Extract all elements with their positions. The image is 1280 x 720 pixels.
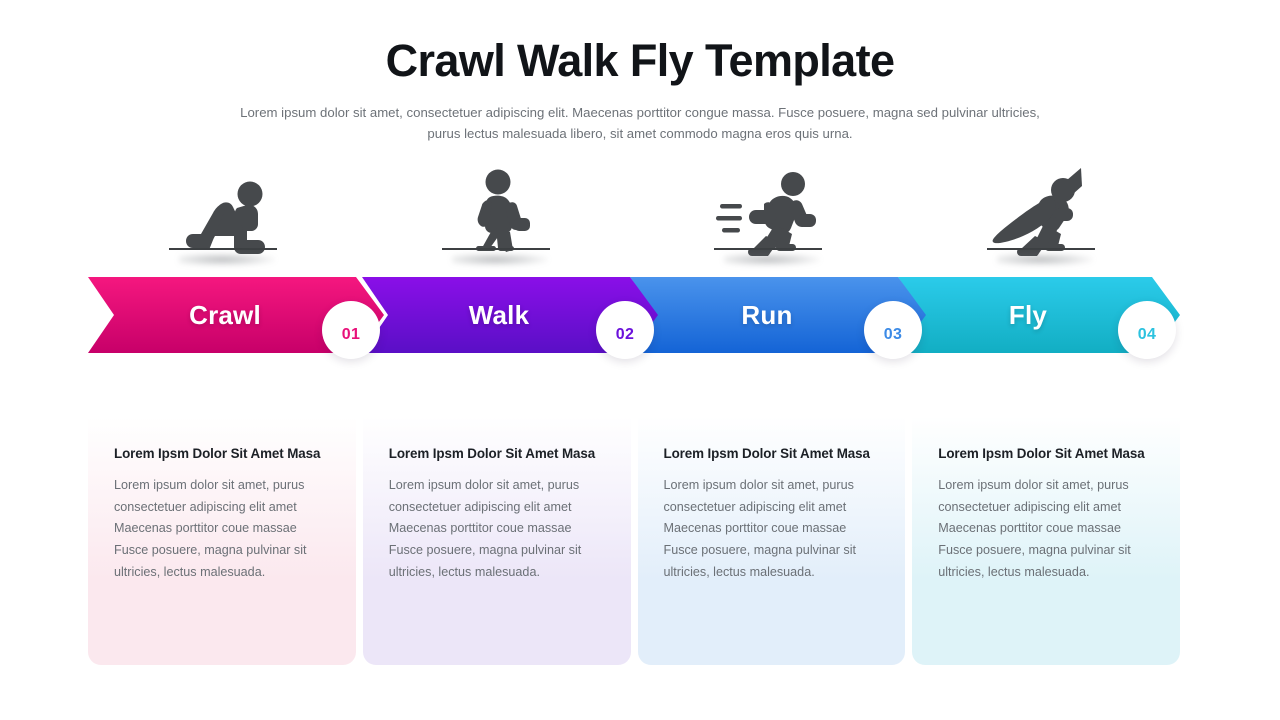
stage-label: Walk xyxy=(469,300,552,331)
ground-line xyxy=(987,248,1095,250)
page-subtitle: Lorem ipsum dolor sit amet, consectetuer… xyxy=(240,102,1040,145)
stage-card-run[interactable]: Lorem Ipsm Dolor Sit Amet Masa Lorem ips… xyxy=(638,362,906,665)
stage-number-badge: 04 xyxy=(1118,301,1176,359)
pictogram-cell-fly xyxy=(906,158,1179,276)
stage-number-badge: 02 xyxy=(596,301,654,359)
card-heading: Lorem Ipsm Dolor Sit Amet Masa xyxy=(938,446,1154,461)
stage-card-walk[interactable]: Lorem Ipsm Dolor Sit Amet Masa Lorem ips… xyxy=(363,362,631,665)
card-body: Lorem ipsum dolor sit amet, purus consec… xyxy=(389,475,605,583)
stage-ribbon-crawl[interactable]: Crawl 01 xyxy=(88,277,384,353)
pictogram-row xyxy=(88,158,1178,276)
stage-number-badge: 03 xyxy=(864,301,922,359)
stage-card-row: Lorem Ipsm Dolor Sit Amet Masa Lorem ips… xyxy=(88,362,1180,665)
card-heading: Lorem Ipsm Dolor Sit Amet Masa xyxy=(114,446,330,461)
page-title: Crawl Walk Fly Template xyxy=(0,36,1280,86)
stage-label: Run xyxy=(741,300,814,331)
stage-card-crawl[interactable]: Lorem Ipsm Dolor Sit Amet Masa Lorem ips… xyxy=(88,362,356,665)
stage-ribbon-run[interactable]: Run 03 xyxy=(630,277,926,353)
stage-label: Crawl xyxy=(189,300,283,331)
slide-canvas: Crawl Walk Fly Template Lorem ipsum dolo… xyxy=(0,0,1280,720)
ground-line xyxy=(442,248,550,250)
icon-reflection xyxy=(452,253,548,266)
flying-superhero-icon xyxy=(981,164,1103,276)
stage-ribbon-band: Crawl 01 Walk 02 Run 03 Fly 04 xyxy=(88,277,1180,353)
stage-number: 01 xyxy=(342,326,360,344)
pictogram-cell-run xyxy=(633,158,906,276)
running-person-icon xyxy=(708,164,830,276)
icon-reflection xyxy=(179,253,275,266)
crawling-person-icon xyxy=(163,164,285,276)
stage-label: Fly xyxy=(1009,300,1069,331)
card-heading: Lorem Ipsm Dolor Sit Amet Masa xyxy=(389,446,605,461)
header: Crawl Walk Fly Template Lorem ipsum dolo… xyxy=(0,36,1280,144)
stage-number: 02 xyxy=(616,326,634,344)
card-body: Lorem ipsum dolor sit amet, purus consec… xyxy=(664,475,880,583)
card-heading: Lorem Ipsm Dolor Sit Amet Masa xyxy=(664,446,880,461)
stage-number: 04 xyxy=(1138,326,1156,344)
stage-card-fly[interactable]: Lorem Ipsm Dolor Sit Amet Masa Lorem ips… xyxy=(912,362,1180,665)
walking-person-icon xyxy=(436,164,558,276)
stage-number-badge: 01 xyxy=(322,301,380,359)
pictogram-cell-walk xyxy=(361,158,634,276)
stage-ribbon-fly[interactable]: Fly 04 xyxy=(898,277,1180,353)
icon-reflection xyxy=(997,253,1093,266)
card-body: Lorem ipsum dolor sit amet, purus consec… xyxy=(938,475,1154,583)
ground-line xyxy=(714,248,822,250)
ground-line xyxy=(169,248,277,250)
icon-reflection xyxy=(724,253,820,266)
pictogram-cell-crawl xyxy=(88,158,361,276)
card-body: Lorem ipsum dolor sit amet, purus consec… xyxy=(114,475,330,583)
stage-number: 03 xyxy=(884,326,902,344)
stage-ribbon-walk[interactable]: Walk 02 xyxy=(362,277,658,353)
